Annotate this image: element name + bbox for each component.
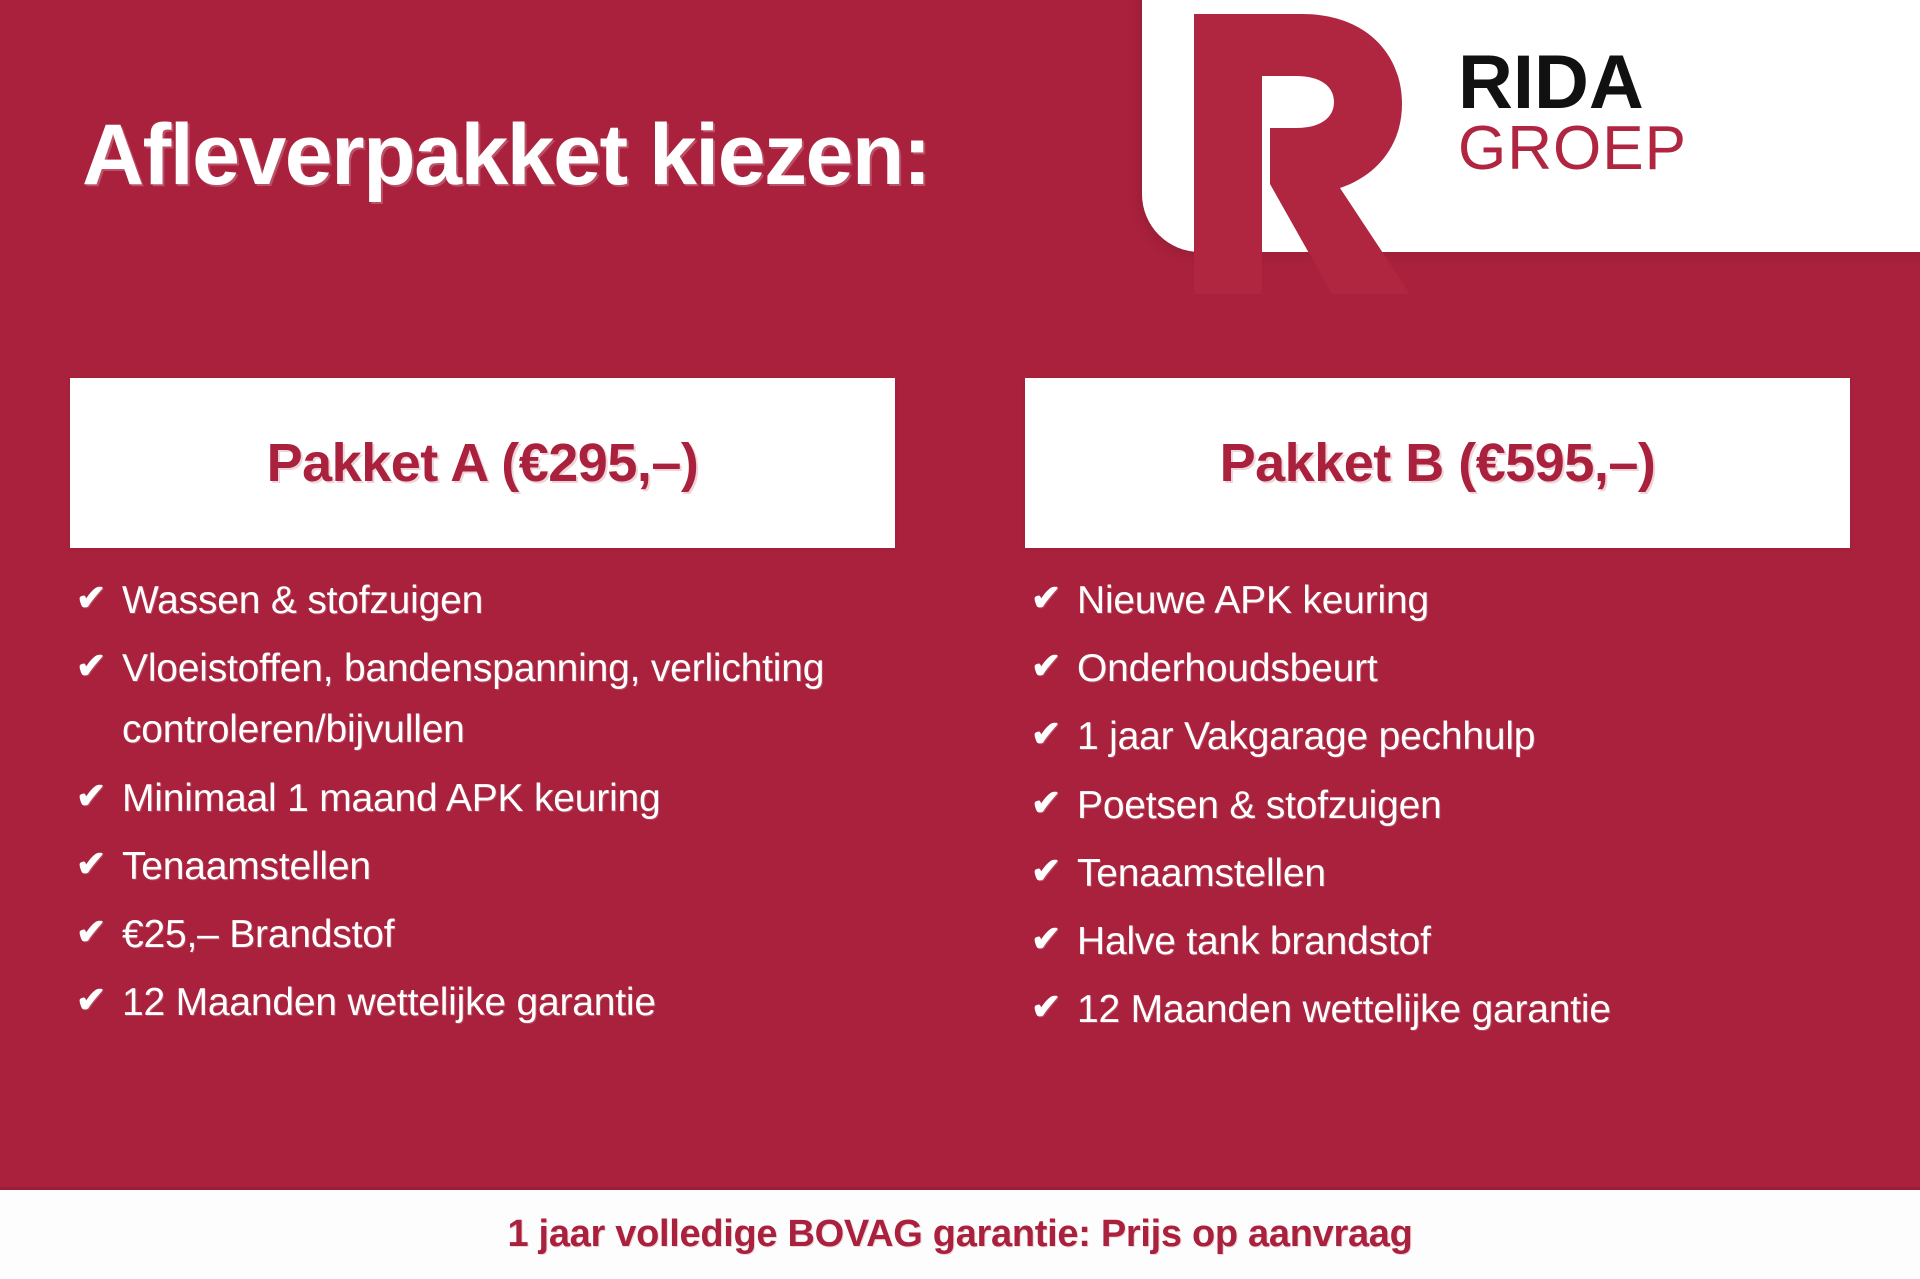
check-icon: ✔ [70,836,122,893]
list-item-label: 12 Maanden wettelijke garantie [122,972,895,1033]
list-item-label: Tenaamstellen [1077,843,1850,904]
check-icon: ✔ [1025,638,1077,695]
list-item: ✔ 1 jaar Vakgarage pechhulp [1025,706,1850,767]
package-a-header: Pakket A (€295,–) [70,378,895,548]
list-item-label: Poetsen & stofzuigen [1077,775,1850,836]
packages-container: Pakket A (€295,–) ✔ Wassen & stofzuigen … [0,378,1920,1048]
list-item-label: Tenaamstellen [122,836,895,897]
list-item-label: Nieuwe APK keuring [1077,570,1850,631]
list-item: ✔ Onderhoudsbeurt [1025,638,1850,699]
check-icon: ✔ [1025,706,1077,763]
list-item: ✔ Wassen & stofzuigen [70,570,895,631]
list-item-label: €25,– Brandstof [122,904,895,965]
list-item-label: Wassen & stofzuigen [122,570,895,631]
package-a-feature-list: ✔ Wassen & stofzuigen ✔ Vloeistoffen, ba… [70,570,895,1034]
footer-banner: 1 jaar volledige BOVAG garantie: Prijs o… [0,1187,1920,1279]
list-item-label: 1 jaar Vakgarage pechhulp [1077,706,1850,767]
list-item: ✔ 12 Maanden wettelijke garantie [70,972,895,1033]
check-icon: ✔ [70,904,122,961]
list-item: ✔ Tenaamstellen [70,836,895,897]
page-title: Afleverpakket kiezen: [82,110,930,200]
check-icon: ✔ [70,570,122,627]
list-item: ✔ Nieuwe APK keuring [1025,570,1850,631]
brand-name-secondary: GROEP [1458,120,1687,177]
package-card-b: Pakket B (€595,–) ✔ Nieuwe APK keuring ✔… [1025,378,1850,1048]
list-item-label: Vloeistoffen, bandenspanning, verlichtin… [122,638,895,760]
check-icon: ✔ [1025,979,1077,1036]
list-item-label: Minimaal 1 maand APK keuring [122,768,895,829]
list-item: ✔ Tenaamstellen [1025,843,1850,904]
check-icon: ✔ [70,972,122,1029]
check-icon: ✔ [1025,911,1077,968]
list-item: ✔ Minimaal 1 maand APK keuring [70,768,895,829]
footer-text: 1 jaar volledige BOVAG garantie: Prijs o… [507,1213,1412,1256]
package-b-feature-list: ✔ Nieuwe APK keuring ✔ Onderhoudsbeurt ✔… [1025,570,1850,1041]
list-item-label: Halve tank brandstof [1077,911,1850,972]
list-item: ✔ €25,– Brandstof [70,904,895,965]
list-item: ✔ Halve tank brandstof [1025,911,1850,972]
list-item: ✔ Poetsen & stofzuigen [1025,775,1850,836]
brand-wordmark: RIDA GROEP [1458,48,1687,177]
check-icon: ✔ [70,638,122,695]
rida-r-logomark-icon [1184,6,1414,296]
check-icon: ✔ [70,768,122,825]
check-icon: ✔ [1025,843,1077,900]
list-item: ✔ 12 Maanden wettelijke garantie [1025,979,1850,1040]
list-item: ✔ Vloeistoffen, bandenspanning, verlicht… [70,638,895,760]
check-icon: ✔ [1025,570,1077,627]
list-item-label: 12 Maanden wettelijke garantie [1077,979,1850,1040]
list-item-label: Onderhoudsbeurt [1077,638,1850,699]
package-card-a: Pakket A (€295,–) ✔ Wassen & stofzuigen … [70,378,895,1048]
package-b-title: Pakket B (€595,–) [1220,432,1656,494]
afleverpakket-poster: Afleverpakket kiezen: RIDA GROEP Pakket … [0,0,1920,1279]
check-icon: ✔ [1025,775,1077,832]
package-b-header: Pakket B (€595,–) [1025,378,1850,548]
package-a-title: Pakket A (€295,–) [267,432,699,494]
brand-name-primary: RIDA [1458,48,1687,118]
